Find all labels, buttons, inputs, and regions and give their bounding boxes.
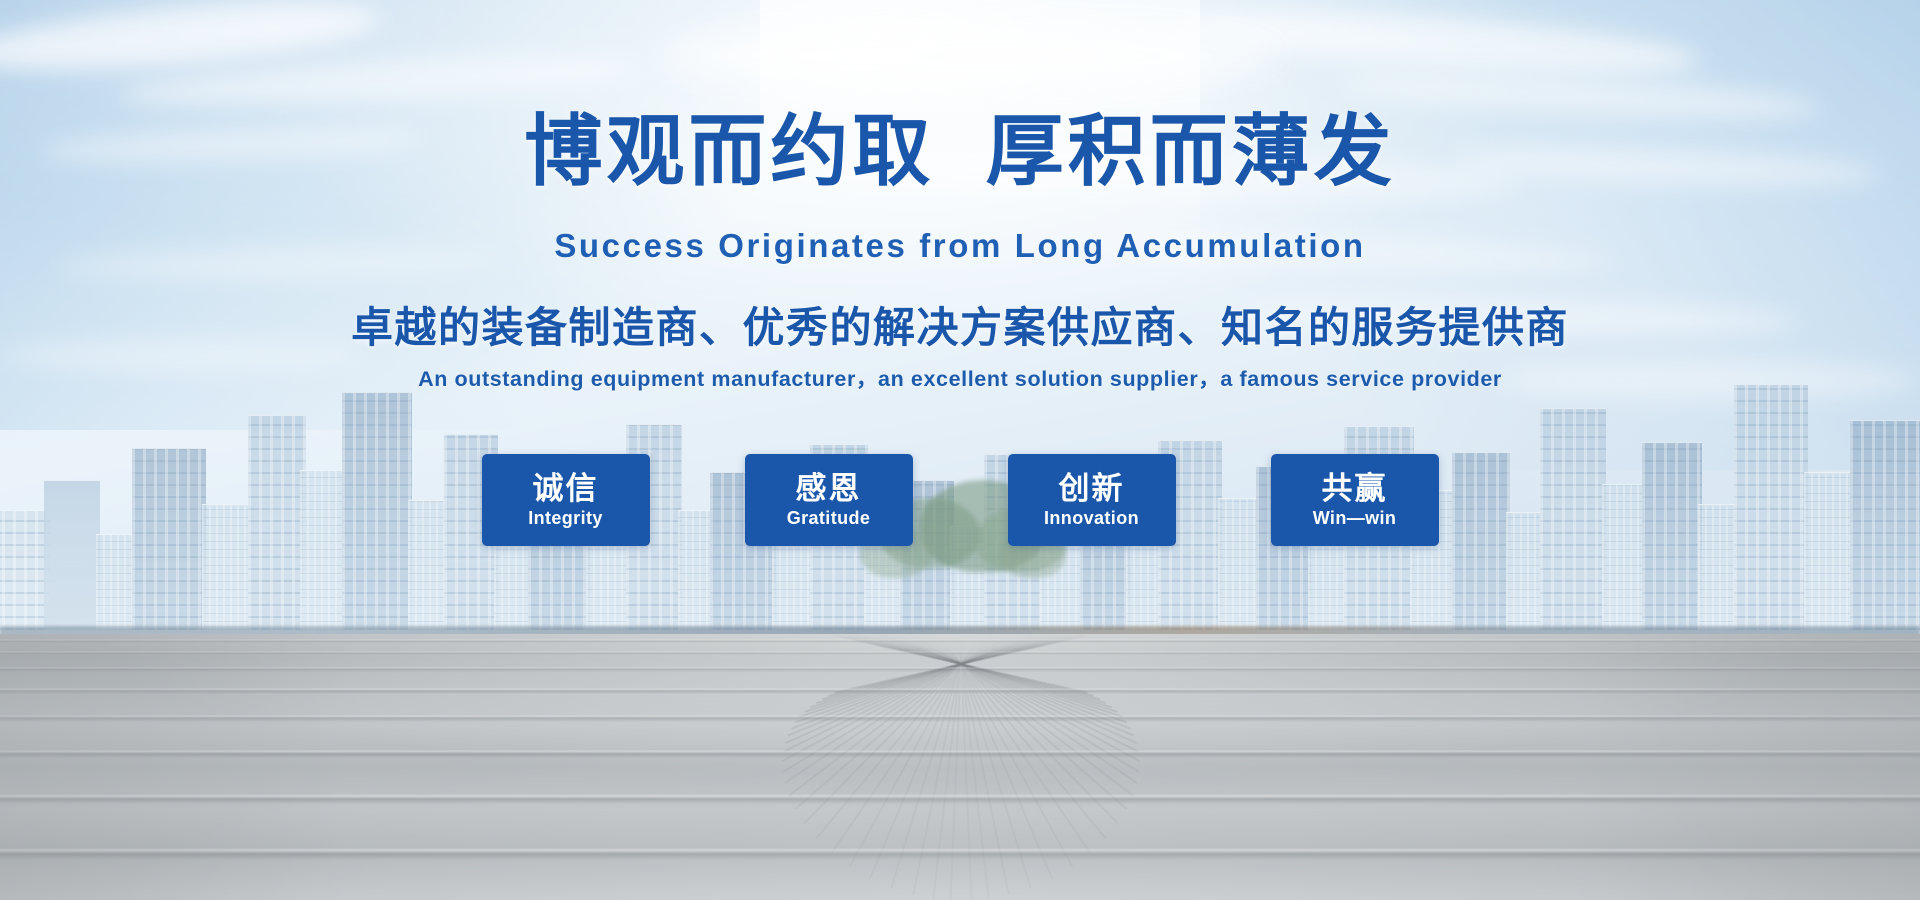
value-card-label-en: Win—win [1313,508,1397,529]
value-card-label-cn: 诚信 [533,472,599,506]
value-card-winwin[interactable]: 共赢 Win—win [1271,454,1439,546]
headline-english: Success Originates from Long Accumulatio… [0,228,1920,264]
value-card-label-en: Gratitude [787,508,871,529]
core-values-list: 诚信 Integrity 感恩 Gratitude 创新 Innovation … [0,454,1920,546]
value-card-label-cn: 创新 [1059,472,1125,506]
tagline-chinese: 卓越的装备制造商、优秀的解决方案供应商、知名的服务提供商 [0,304,1920,352]
value-card-label-cn: 感恩 [796,472,862,506]
headline-chinese: 博观而约取 厚积而薄发 [0,112,1920,190]
value-card-label-cn: 共赢 [1322,472,1388,506]
banner-content: 博观而约取 厚积而薄发 Success Originates from Long… [0,0,1920,700]
tagline-english: An outstanding equipment manufacturer，an… [0,366,1920,392]
value-card-integrity[interactable]: 诚信 Integrity [482,454,650,546]
value-card-innovation[interactable]: 创新 Innovation [1008,454,1176,546]
hero-banner: 博观而约取 厚积而薄发 Success Originates from Long… [0,0,1920,900]
value-card-label-en: Integrity [528,508,603,529]
value-card-gratitude[interactable]: 感恩 Gratitude [745,454,913,546]
value-card-label-en: Innovation [1044,508,1139,529]
